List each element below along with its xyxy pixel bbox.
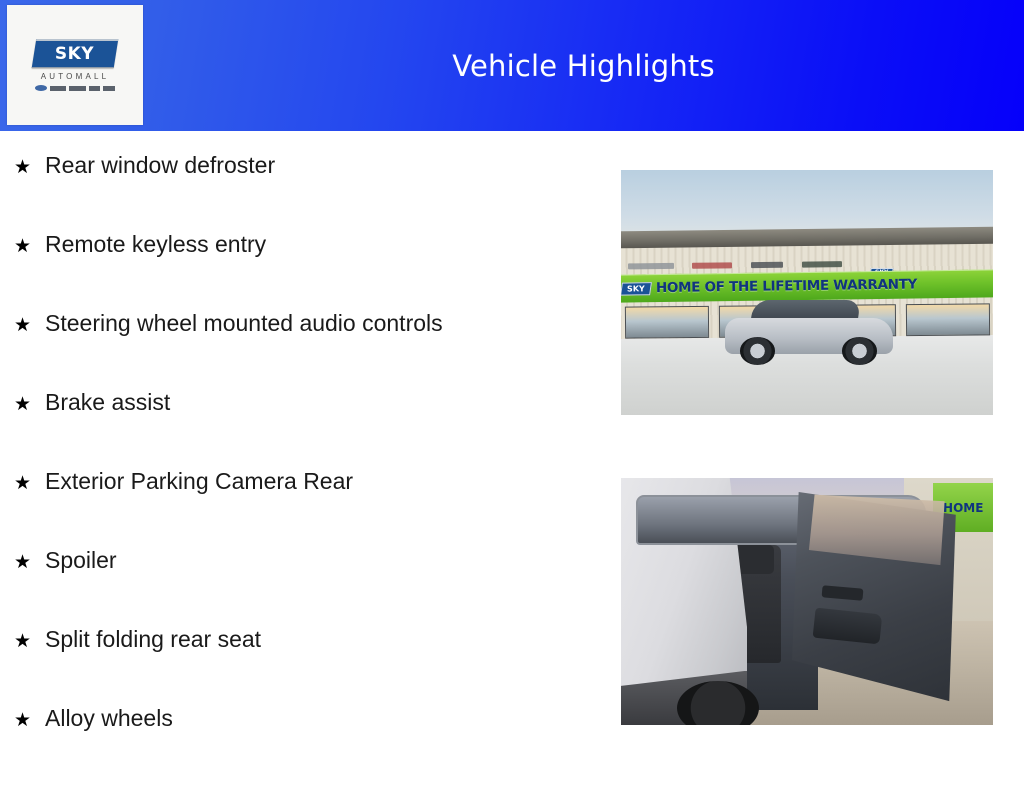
chrysler-wall-badge-icon (628, 264, 674, 270)
dealer-logo-box[interactable]: SKY AUTOMALL (7, 5, 143, 125)
list-item: ★ Steering wheel mounted audio controls (0, 312, 610, 391)
dodge-badge-icon (69, 86, 86, 91)
star-icon: ★ (14, 711, 45, 730)
feature-label: Remote keyless entry (45, 233, 266, 256)
star-icon: ★ (14, 474, 45, 493)
window-pane (625, 306, 709, 339)
ford-oval-icon (35, 85, 47, 91)
feature-label: Steering wheel mounted audio controls (45, 312, 443, 335)
feature-label: Alloy wheels (45, 707, 173, 730)
star-icon: ★ (14, 632, 45, 651)
feature-label: Brake assist (45, 391, 170, 414)
banner-sky-badge: SKY (621, 281, 652, 294)
dodge-wall-badge-icon (693, 263, 733, 269)
star-icon: ★ (14, 158, 45, 177)
star-icon: ★ (14, 316, 45, 335)
banner-sky-badge-text: SKY (627, 284, 645, 293)
star-icon: ★ (14, 237, 45, 256)
chrysler-badge-icon (50, 86, 66, 91)
suv-front-wheel (740, 337, 775, 364)
sky-logo-text: SKY (55, 45, 94, 62)
jeep-wall-badge-icon (752, 262, 784, 268)
star-icon: ★ (14, 553, 45, 572)
feature-label: Rear window defroster (45, 154, 275, 177)
list-item: ★ Spoiler (0, 549, 610, 628)
feature-label: Spoiler (45, 549, 117, 572)
background-banner-text: HOME (943, 501, 983, 515)
ram-wall-badge-icon (802, 262, 842, 268)
page-header: SKY AUTOMALL Vehicle Highlights (0, 0, 1024, 131)
list-item: ★ Rear window defroster (0, 154, 610, 233)
star-icon: ★ (14, 395, 45, 414)
oem-brand-badges (35, 85, 115, 92)
automall-subtitle: AUTOMALL (41, 73, 110, 81)
vehicle-photo-exterior[interactable]: SKY SKY HOME OF THE LIFETIME WARRANTY (621, 170, 993, 415)
window-pane (905, 303, 989, 336)
list-item: ★ Split folding rear seat (0, 628, 610, 707)
feature-label: Exterior Parking Camera Rear (45, 470, 353, 493)
list-item: ★ Exterior Parking Camera Rear (0, 470, 610, 549)
sky-logo-plate: SKY (32, 39, 119, 68)
feature-label: Split folding rear seat (45, 628, 261, 651)
suv-side-view (725, 297, 892, 366)
suv-rear-wheel (842, 337, 877, 364)
ram-badge-icon (103, 86, 115, 91)
list-item: ★ Remote keyless entry (0, 233, 610, 312)
list-item: ★ Alloy wheels (0, 707, 610, 786)
jeep-badge-icon (89, 86, 100, 91)
list-item: ★ Brake assist (0, 391, 610, 470)
banner-text: HOME OF THE LIFETIME WARRANTY (656, 276, 917, 296)
sky-automall-logo: SKY AUTOMALL (7, 5, 143, 125)
vehicle-highlights-list: ★ Rear window defroster ★ Remote keyless… (0, 131, 610, 768)
vehicle-photo-interior[interactable]: HOME (621, 478, 993, 725)
page-title: Vehicle Highlights (143, 0, 1024, 131)
